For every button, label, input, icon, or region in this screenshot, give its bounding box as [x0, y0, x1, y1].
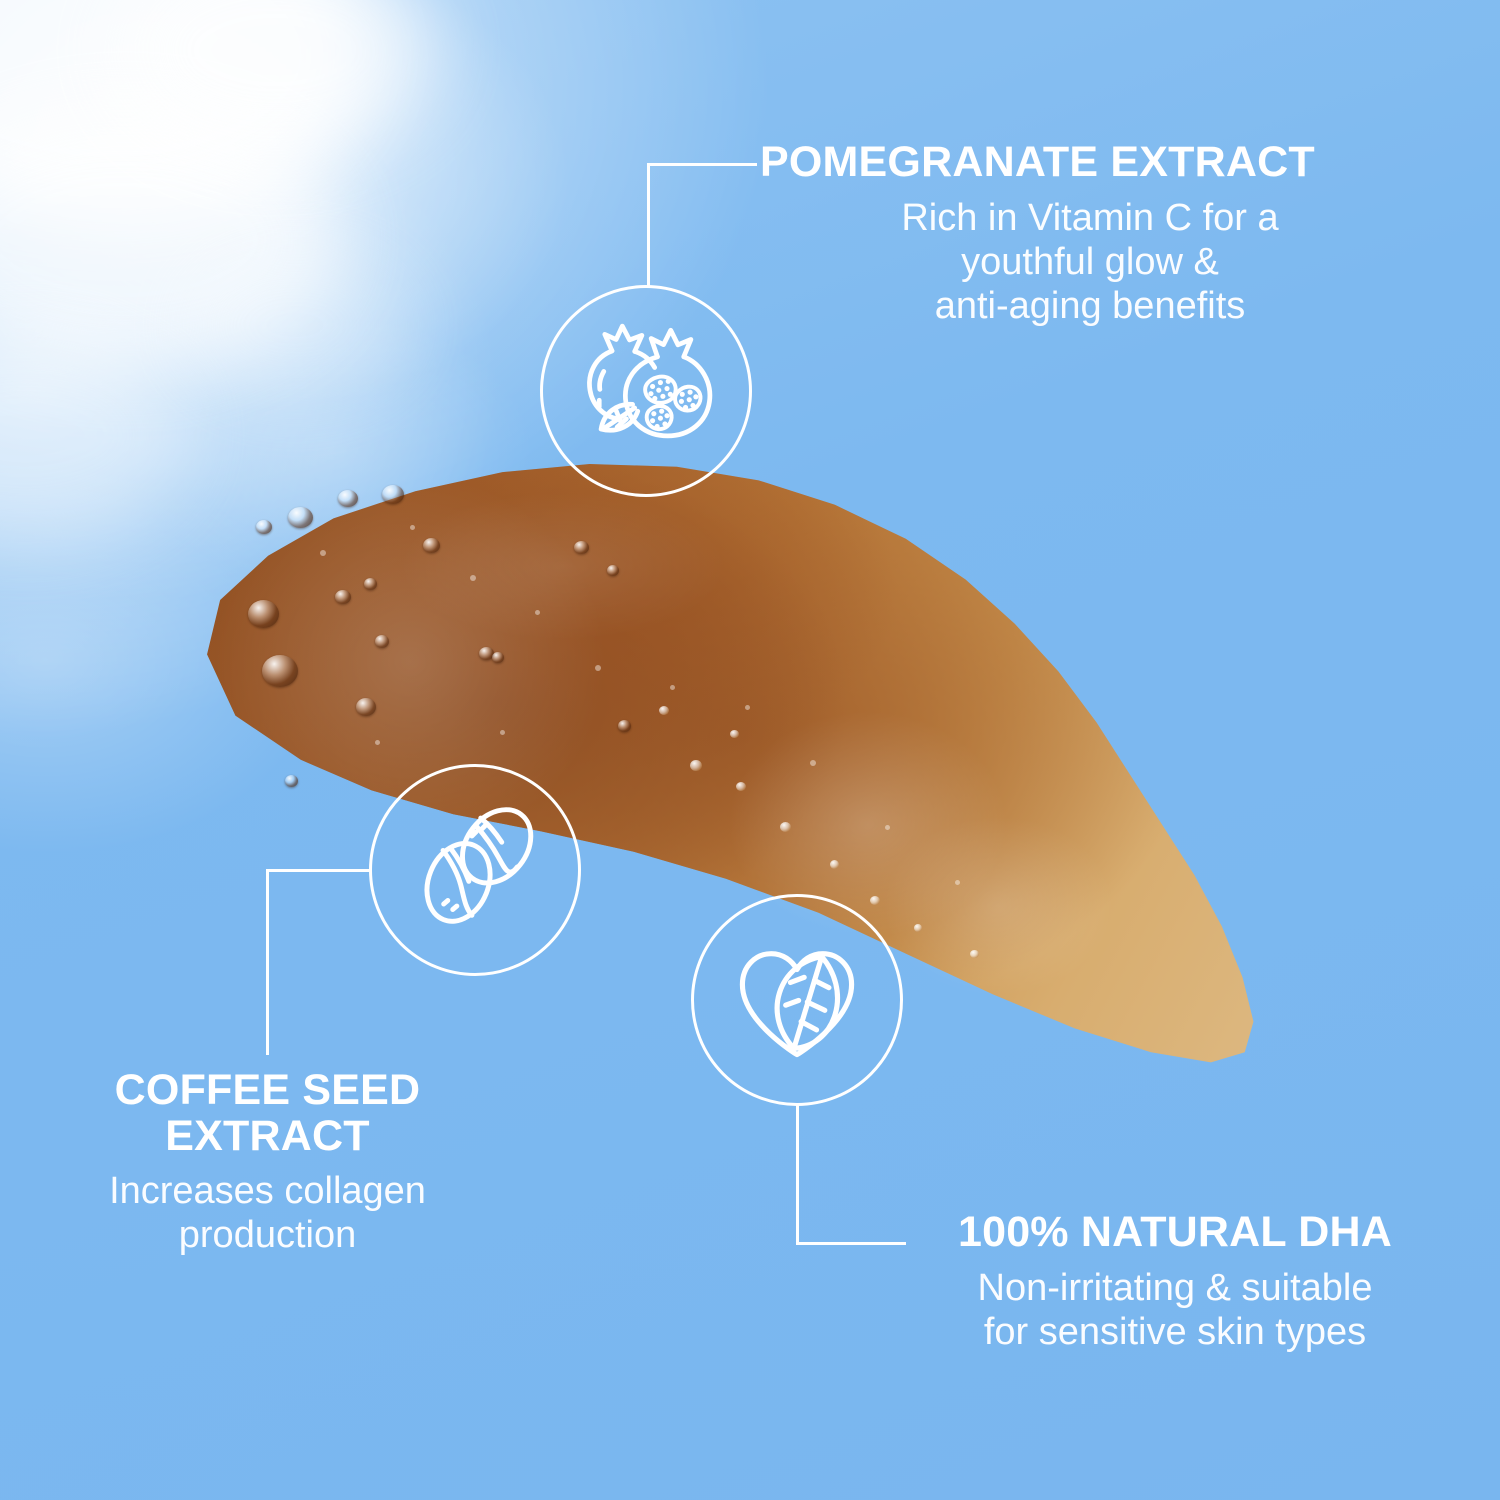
foam-bubble	[382, 485, 404, 504]
natural-dha-callout-circle[interactable]	[691, 894, 903, 1106]
foam-bubble	[970, 950, 979, 958]
pomegranate-text-block: POMEGRANATE EXTRACT Rich in Vitamin C fo…	[760, 140, 1420, 328]
foam-bubble	[375, 635, 389, 648]
coffee-seed-text-block: COFFEE SEED EXTRACT Increases collagen p…	[40, 1068, 495, 1257]
foam-bubble	[780, 822, 791, 832]
foam-speck	[745, 705, 750, 710]
foam-bubble	[248, 600, 279, 628]
coffee-seed-description: Increases collagen production	[40, 1169, 495, 1257]
connector-pomegranate-horizontal	[647, 163, 757, 166]
foam-bubble	[659, 706, 669, 715]
foam-speck	[375, 740, 380, 745]
natural-dha-title: 100% NATURAL DHA	[905, 1210, 1445, 1256]
foam-bubble	[830, 860, 839, 869]
coffee-beans-icon	[372, 767, 578, 973]
foam-speck	[955, 880, 960, 885]
foam-bubble	[607, 565, 619, 576]
foam-bubble	[574, 541, 589, 554]
foam-bubble	[285, 775, 298, 787]
connector-coffee-horizontal	[266, 869, 372, 872]
infographic-canvas: POMEGRANATE EXTRACT Rich in Vitamin C fo…	[0, 0, 1500, 1500]
pomegranate-title: POMEGRANATE EXTRACT	[760, 140, 1420, 186]
foam-bubble	[364, 578, 377, 590]
foam-speck	[410, 525, 415, 530]
foam-bubble	[730, 730, 739, 738]
coffee-seed-callout-circle[interactable]	[369, 764, 581, 976]
foam-speck	[500, 730, 505, 735]
foam-bubble	[256, 520, 272, 534]
foam-bubble	[690, 760, 702, 771]
foam-bubble	[288, 507, 313, 528]
pomegranate-callout-circle[interactable]	[540, 285, 752, 497]
foam-bubble	[338, 490, 358, 507]
foam-speck	[535, 610, 540, 615]
foam-bubble	[914, 924, 922, 932]
natural-dha-text-block: 100% NATURAL DHA Non-irritating & suitab…	[905, 1210, 1445, 1354]
foam-bubble	[492, 652, 504, 663]
coffee-seed-title: COFFEE SEED EXTRACT	[40, 1068, 495, 1159]
foam-speck	[810, 760, 816, 766]
pomegranate-icon	[543, 288, 749, 494]
foam-bubble	[423, 538, 440, 553]
connector-pomegranate-vertical	[647, 163, 650, 288]
foam-bubble	[736, 782, 746, 791]
foam-speck	[320, 550, 326, 556]
foam-speck	[470, 575, 476, 581]
connector-coffee-vertical	[266, 869, 269, 1055]
heart-leaf-icon	[694, 897, 900, 1103]
natural-dha-description: Non-irritating & suitable for sensitive …	[905, 1266, 1445, 1354]
pomegranate-description: Rich in Vitamin C for a youthful glow & …	[760, 196, 1420, 328]
connector-dha-horizontal	[796, 1242, 906, 1245]
foam-bubble	[618, 720, 631, 732]
foam-bubble	[335, 590, 351, 604]
foam-speck	[595, 665, 601, 671]
foam-speck	[670, 685, 675, 690]
foam-bubble	[262, 655, 298, 687]
foam-bubble	[356, 698, 376, 716]
foam-speck	[885, 825, 890, 830]
connector-dha-vertical	[796, 1104, 799, 1245]
